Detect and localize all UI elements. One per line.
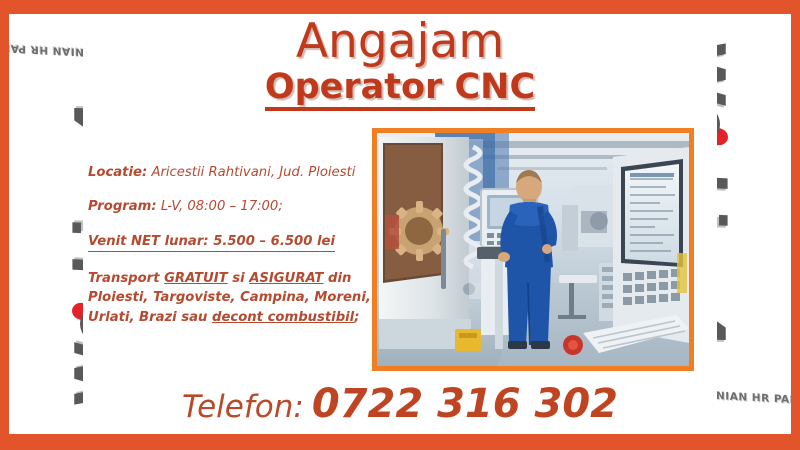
logo-tagline: ROMANIAN HR PARTNER	[9, 39, 83, 59]
logo-left: W rking4u ROMANIAN HR PARTNER	[9, 14, 83, 434]
logo-right: W rking4u ROMANIAN HR PARTNER	[717, 14, 791, 434]
page-title: Angajam	[90, 18, 710, 65]
frame-right-bar	[791, 0, 800, 450]
detail-location: Locatie: Aricestii Rahtivani, Jud. Ploie…	[88, 164, 373, 181]
logo-balloon-o-icon	[717, 103, 726, 147]
logo-word-pre: W	[73, 343, 83, 409]
detail-transport: Transport GRATUIT si ASIGURAT din Ploies…	[88, 269, 373, 326]
transport-end: ;	[354, 310, 359, 325]
poster-heading: Angajam Operator CNC	[90, 18, 710, 111]
job-title: Operator CNC	[265, 69, 535, 111]
transport-mid: si	[228, 271, 250, 286]
location-label: Locatie:	[88, 165, 147, 180]
transport-free: GRATUIT	[164, 271, 228, 286]
job-advert-poster: W rking4u ROMANIAN HR PARTNER W	[0, 0, 800, 450]
schedule-value: L-V, 08:00 – 17:00;	[161, 199, 283, 214]
transport-cities-line2: Urlati, Brazi sau	[88, 310, 212, 325]
logo-balloon-o-icon	[74, 301, 83, 345]
location-value: Aricestii Rahtivani, Jud. Ploiesti	[151, 165, 355, 180]
frame-bottom-bar	[0, 434, 800, 450]
detail-salary: Venit NET lunar: 5.500 – 6.500 lei	[88, 233, 373, 252]
contact-line: Telefon:0722 316 302	[90, 381, 710, 427]
transport-suffix: din	[323, 271, 351, 286]
logo-word-post: rking4u	[73, 62, 83, 304]
job-details-block: Locatie: Aricestii Rahtivani, Jud. Ploie…	[88, 164, 373, 327]
transport-cities-line1: Ploiesti, Targoviste, Campina, Moreni,	[88, 290, 371, 305]
schedule-label: Program:	[88, 199, 157, 214]
transport-insured: ASIGURAT	[249, 271, 323, 286]
transport-fuel: decont combustibil	[212, 310, 354, 325]
phone-label: Telefon:	[182, 389, 304, 425]
cnc-workshop-illustration	[377, 133, 689, 366]
logo-tagline: ROMANIAN HR PARTNER	[717, 389, 791, 409]
frame-top-bar	[0, 0, 800, 14]
phone-number[interactable]: 0722 316 302	[312, 381, 618, 427]
logo-word-post: rking4u	[717, 144, 727, 386]
logo-wordmark: W rking4u	[717, 39, 727, 386]
logo-wordmark: W rking4u	[73, 62, 83, 409]
detail-schedule: Program: L-V, 08:00 – 17:00;	[88, 198, 373, 215]
logo-word-pre: W	[717, 39, 727, 105]
transport-prefix: Transport	[88, 271, 164, 286]
frame-left-bar	[0, 0, 9, 450]
salary-text: Venit NET lunar: 5.500 – 6.500 lei	[88, 233, 335, 252]
cnc-workshop-photo	[372, 128, 694, 371]
